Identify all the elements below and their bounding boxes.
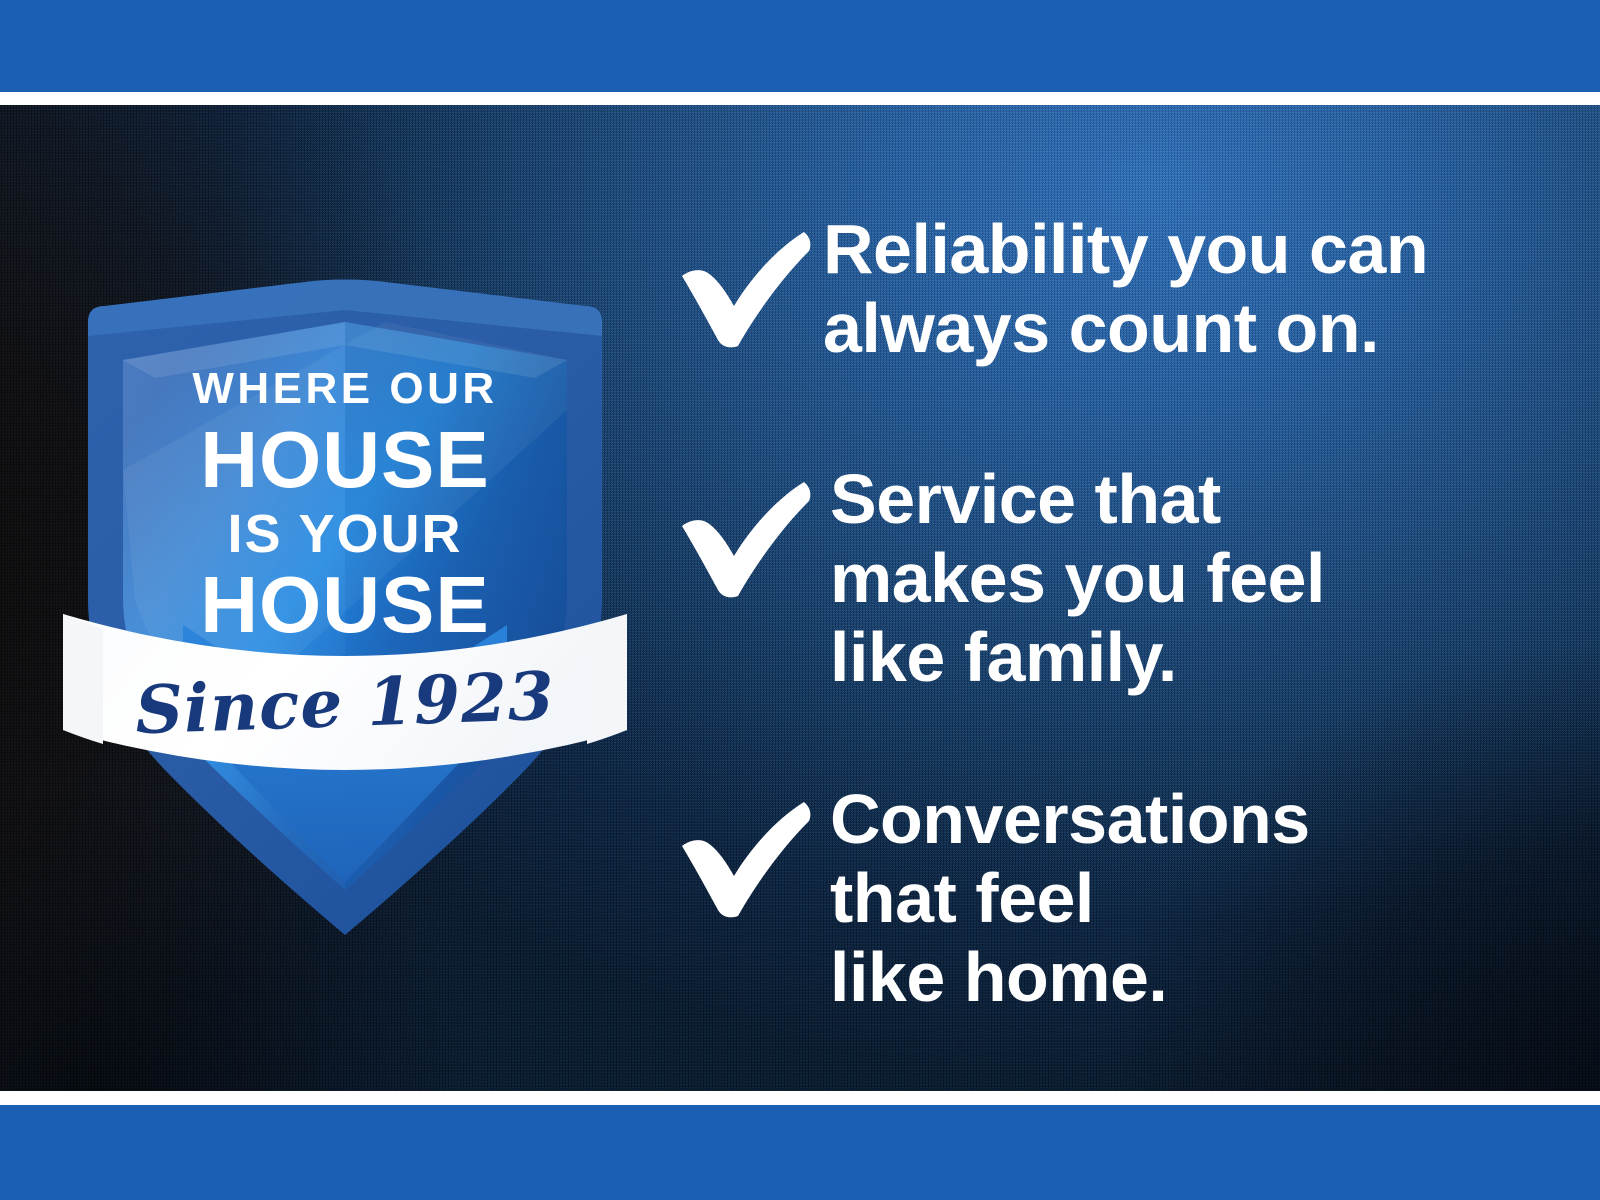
checkmark-glyph [660, 218, 815, 353]
benefit-text-reliability: Reliability you can always count on. [823, 210, 1560, 368]
checkmark-icon [660, 460, 835, 603]
top-white-divider [0, 92, 1600, 105]
checkmark-icon [660, 210, 835, 353]
benefit-item-service: Service that makes you feel like family. [660, 460, 1560, 697]
bottom-white-divider [0, 1091, 1600, 1105]
benefit-text-service: Service that makes you feel like family. [830, 460, 1560, 697]
checkmark-glyph [660, 788, 815, 923]
benefit-item-reliability: Reliability you can always count on. [660, 210, 1560, 368]
checkmark-icon [660, 780, 835, 923]
top-brand-bar [0, 0, 1600, 92]
benefits-list: Reliability you can always count on. Ser… [660, 105, 1560, 1091]
benefit-item-conversations: Conversations that feel like home. [660, 780, 1560, 1017]
checkmark-glyph [660, 468, 815, 603]
ribbon-since-label: Since 1923 [54, 660, 636, 746]
promo-graphic: WHERE OUR HOUSE IS YOUR HOUSE Since 1923… [0, 0, 1600, 1200]
brand-shield-emblem: WHERE OUR HOUSE IS YOUR HOUSE Since 1923 [55, 170, 635, 870]
shield-line-house-2: HOUSE [55, 565, 635, 645]
shield-line-where-our: WHERE OUR [55, 367, 635, 411]
benefit-text-conversations: Conversations that feel like home. [830, 780, 1560, 1017]
shield-line-is-your: IS YOUR [55, 507, 635, 561]
bottom-brand-bar [0, 1105, 1600, 1200]
shield-line-house-1: HOUSE [55, 420, 635, 500]
